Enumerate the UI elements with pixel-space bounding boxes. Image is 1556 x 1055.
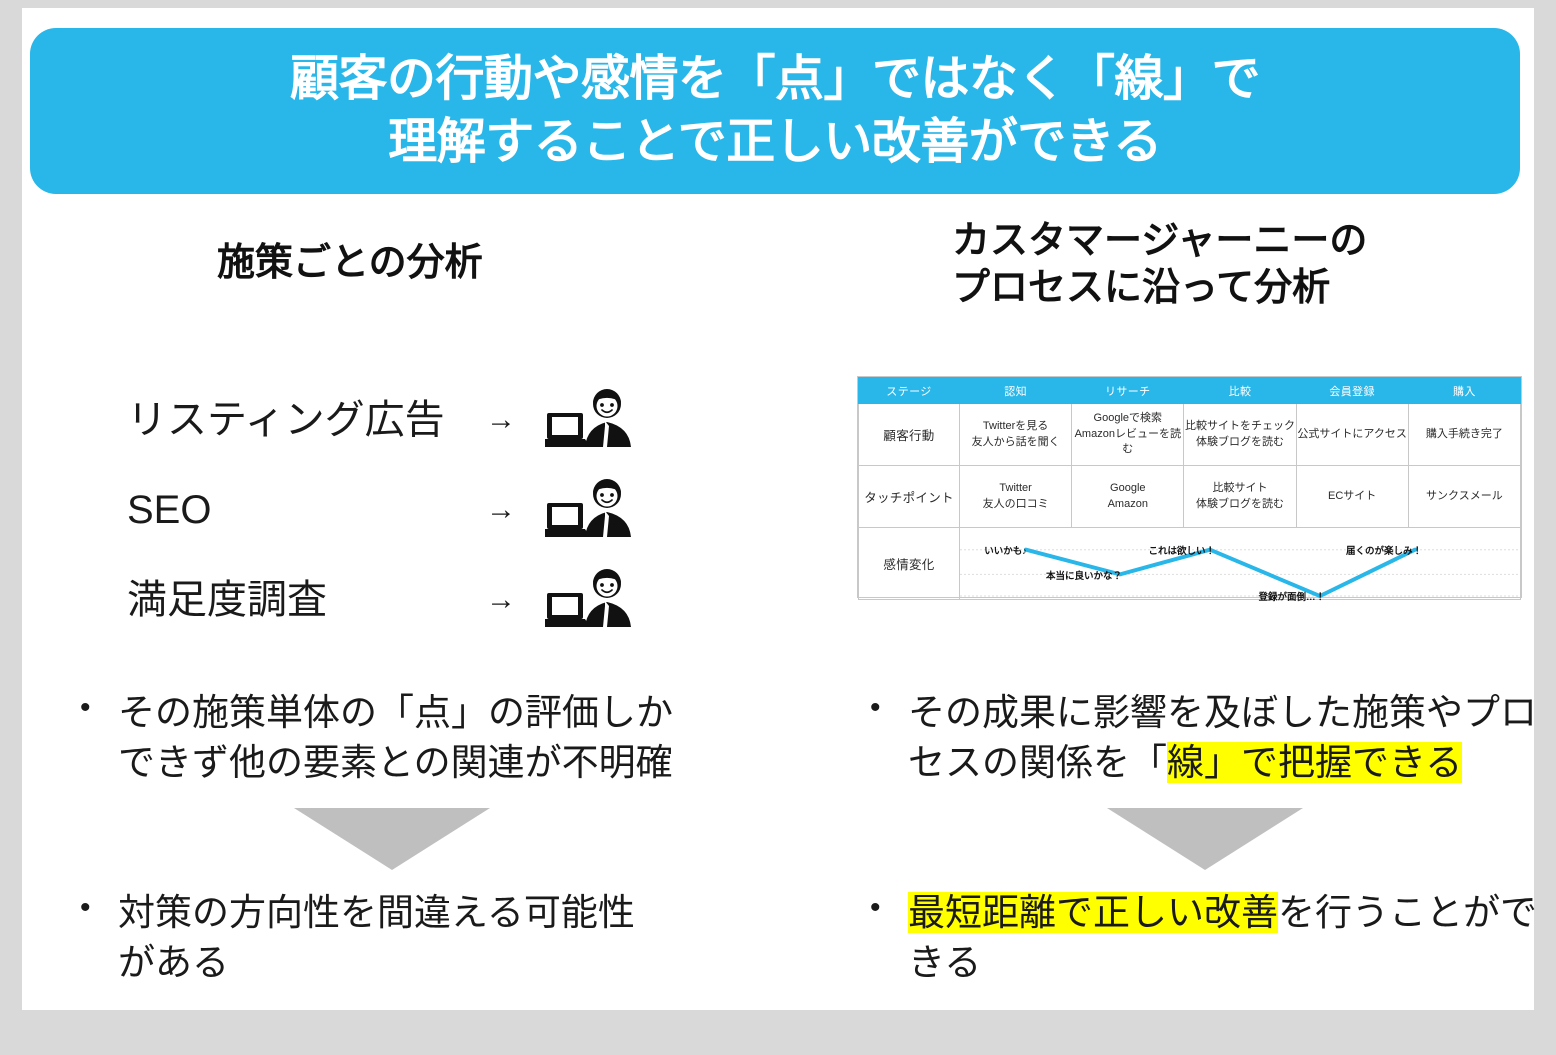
slide-canvas: 顧客の行動や感情を「点」ではなく「線」で 理解することで正しい改善ができる 施策… (22, 8, 1534, 1010)
bullet-text: その施策単体の「点」の評価しか できず他の要素との関連が不明確 (118, 688, 673, 787)
table-cell: 購入手続き完了 (1408, 404, 1520, 466)
customer-journey-table: ステージ 認知 リサーチ 比較 会員登録 購入 顧客行動 Twitterを見る … (857, 376, 1522, 598)
measure-label: リスティング広告 (127, 400, 457, 440)
slide-title-banner: 顧客の行動や感情を「点」ではなく「線」で 理解することで正しい改善ができる (30, 28, 1520, 194)
table-cell: ECサイト (1296, 466, 1408, 528)
table-row-label: 感情変化 (859, 528, 960, 600)
table-cell: Twitterを見る 友人から話を聞く (960, 404, 1072, 466)
left-column-heading: 施策ごとの分析 (217, 240, 483, 287)
emotion-label: いいかも♪ (984, 543, 1027, 557)
emotion-label: 届くのが楽しみ！ (1346, 543, 1422, 557)
bullet-text: その成果に影響を及ぼした施策やプロ セスの関係を「線」で把握できる (908, 688, 1537, 787)
emotion-label: 登録が面倒…！ (1258, 589, 1325, 603)
arrow-right-icon: → (457, 403, 545, 437)
measure-label: SEO (127, 490, 457, 530)
table-cell: 比較サイト 体験ブログを読む (1184, 466, 1296, 528)
bullet-text-highlight: 最短距離で正しい改善 (908, 892, 1278, 933)
table-row: タッチポイント Twitter 友人の口コミ Google Amazon 比較サ… (859, 466, 1521, 528)
right-bullet-1: • その成果に影響を及ぼした施策やプロ セスの関係を「線」で把握できる (852, 688, 1552, 787)
table-cell: 公式サイトにアクセス (1296, 404, 1408, 466)
list-item: 満足度調査 → (127, 556, 687, 644)
table-row-emotion: 感情変化 いいかも♪ 本当に良いかな？ これは欲しい！ 登録が面倒…！ 届くのが… (859, 528, 1521, 600)
left-bullet-2: • 対策の方向性を間違える可能性 がある (62, 888, 762, 987)
arrow-right-icon: → (457, 583, 545, 617)
emotion-chart: いいかも♪ 本当に良いかな？ これは欲しい！ 登録が面倒…！ 届くのが楽しみ！ (960, 528, 1521, 600)
table-header-cell: ステージ (859, 378, 960, 404)
table-cell: Google Amazon (1072, 466, 1184, 528)
right-bullet-2: • 最短距離で正しい改善を行うことがで きる (852, 888, 1552, 987)
bullet-marker: • (852, 888, 908, 928)
table-header-cell: 認知 (960, 378, 1072, 404)
person-with-laptop-icon (545, 389, 635, 451)
table-header-cell: リサーチ (1072, 378, 1184, 404)
bullet-text-highlight: 線」で把握できる (1167, 742, 1462, 783)
table-row-label: タッチポイント (859, 466, 960, 528)
list-item: SEO → (127, 466, 687, 554)
bullet-marker: • (62, 888, 118, 928)
table-cell: Twitter 友人の口コミ (960, 466, 1072, 528)
page-title: 顧客の行動や感情を「点」ではなく「線」で 理解することで正しい改善ができる (290, 48, 1260, 173)
emotion-label: これは欲しい！ (1148, 543, 1215, 557)
right-column-heading: カスタマージャーニーの プロセスに沿って分析 (952, 218, 1367, 311)
table-header-cell: 会員登録 (1296, 378, 1408, 404)
table-header-cell: 購入 (1408, 378, 1520, 404)
left-bullet-1: • その施策単体の「点」の評価しか できず他の要素との関連が不明確 (62, 688, 762, 787)
table-cell: Googleで検索 Amazonレビューを読む (1072, 404, 1184, 466)
table-cell: 比較サイトをチェック 体験ブログを読む (1184, 404, 1296, 466)
table-header-cell: 比較 (1184, 378, 1296, 404)
person-with-laptop-icon (545, 569, 635, 631)
table-row: 顧客行動 Twitterを見る 友人から話を聞く Googleで検索 Amazo… (859, 404, 1521, 466)
table-header-row: ステージ 認知 リサーチ 比較 会員登録 購入 (859, 378, 1521, 404)
person-with-laptop-icon (545, 479, 635, 541)
emotion-label: 本当に良いかな？ (1046, 568, 1122, 582)
bullet-marker: • (62, 688, 118, 728)
arrow-right-icon: → (457, 493, 545, 527)
measure-list: リスティング広告 → SEO → (127, 376, 687, 646)
table-cell: サンクスメール (1408, 466, 1520, 528)
bullet-text: 対策の方向性を間違える可能性 がある (118, 888, 635, 987)
down-arrow-icon (294, 808, 490, 872)
list-item: リスティング広告 → (127, 376, 687, 464)
bullet-marker: • (852, 688, 908, 728)
down-arrow-icon (1107, 808, 1303, 872)
table-row-label: 顧客行動 (859, 404, 960, 466)
bullet-text: 最短距離で正しい改善を行うことがで きる (908, 888, 1537, 987)
measure-label: 満足度調査 (127, 580, 457, 620)
